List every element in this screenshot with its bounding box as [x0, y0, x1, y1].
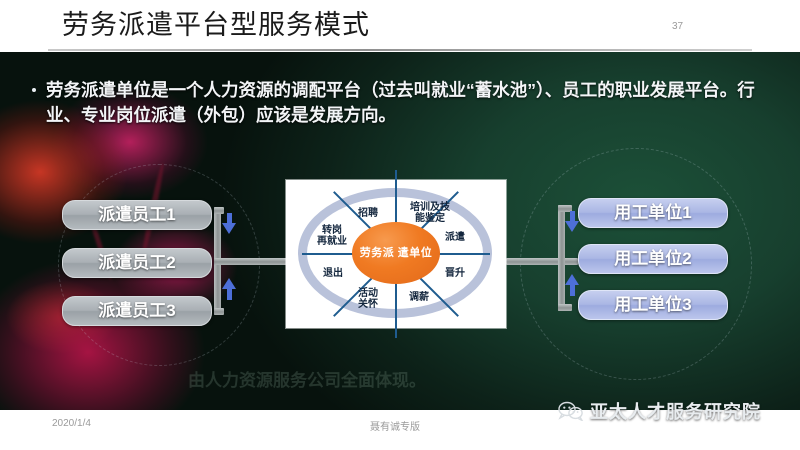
organization-name: 亚太人才服务研究院	[590, 398, 761, 424]
spoke-label-salary: 调薪	[398, 292, 440, 303]
center-node-label: 劳务派 遣单位	[360, 247, 433, 260]
right-up-arrow-icon	[565, 274, 579, 285]
footer-note: 聂有诚专版	[370, 418, 420, 433]
right-bracket-bottom	[558, 304, 572, 311]
page-number: 37	[672, 21, 683, 32]
right-up-arrow-stem	[570, 285, 575, 296]
faint-note-text: 由人力资源服务公司全面体现。	[188, 370, 618, 392]
spoke-label-care: 活动 关怀	[348, 288, 388, 310]
spoke-label-training: 培训及技 能鉴定	[402, 202, 458, 224]
spoke-label-dispatch: 派遣	[434, 232, 476, 243]
center-diagram-panel: 劳务派 遣单位 招聘 培训及技 能鉴定 派遣 晋升 调薪 活动 关怀 退出 转岗…	[286, 180, 506, 328]
center-node: 劳务派 遣单位	[352, 222, 440, 284]
left-up-arrow-icon	[222, 278, 236, 289]
spoke-label-exit: 退出	[312, 268, 354, 279]
left-up-arrow-stem	[227, 289, 232, 300]
dispatch-employee-box-1[interactable]: 派遣员工1	[62, 200, 212, 230]
dispatch-employee-box-3[interactable]: 派遣员工3	[62, 296, 212, 326]
dispatch-employee-box-2[interactable]: 派遣员工2	[62, 248, 212, 278]
left-bracket-top	[214, 207, 224, 214]
left-bracket-horizontal	[214, 258, 290, 265]
wechat-icon	[558, 401, 584, 421]
page-title: 劳务派遣平台型服务模式	[62, 4, 370, 48]
organization-logo: 亚太人才服务研究院	[558, 396, 796, 426]
left-bracket-bottom	[214, 308, 224, 315]
slide-canvas: 劳务派遣平台型服务模式 劳务派遣单位是一个人力资源的调配平台（过去叫就业“蓄水池…	[0, 0, 800, 450]
spoke-label-promotion: 晋升	[434, 268, 476, 279]
right-down-arrow-icon	[565, 221, 579, 232]
employer-unit-box-2[interactable]: 用工单位2	[578, 244, 728, 274]
employer-unit-box-3[interactable]: 用工单位3	[578, 290, 728, 320]
left-down-arrow-icon	[222, 223, 236, 234]
employer-unit-box-1[interactable]: 用工单位1	[578, 198, 728, 228]
body-paragraph-text: 劳务派遣单位是一个人力资源的调配平台（过去叫就业“蓄水池”）、员工的职业发展平台…	[46, 80, 755, 125]
right-bracket-vertical	[558, 205, 565, 311]
footer-date: 2020/1/4	[52, 418, 91, 429]
body-paragraph: 劳务派遣单位是一个人力资源的调配平台（过去叫就业“蓄水池”）、员工的职业发展平台…	[46, 78, 762, 128]
spoke-label-recruitment: 招聘	[348, 208, 388, 219]
title-underline	[48, 49, 752, 51]
bullet-marker	[32, 88, 36, 92]
right-bracket-horizontal	[506, 258, 578, 265]
spoke-label-redeployment: 转岗 再就业	[308, 225, 356, 247]
